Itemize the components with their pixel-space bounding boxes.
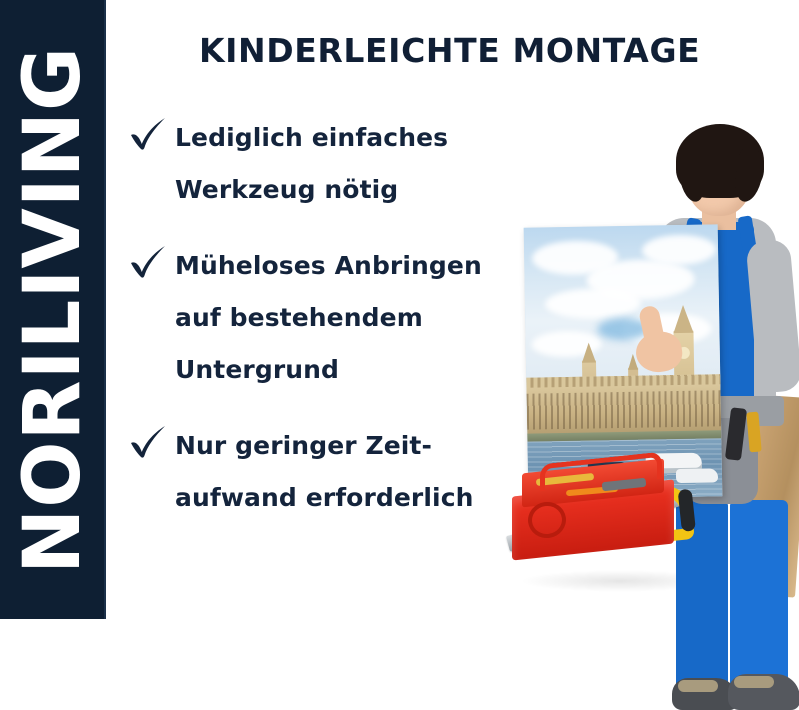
list-item-line: Untergrund <box>175 344 508 396</box>
check-icon <box>128 116 168 152</box>
brand-sidebar-edge <box>104 0 106 619</box>
list-item: Lediglich einfaches Werkzeug nötig <box>128 112 508 216</box>
list-item-line: aufwand erforderlich <box>175 472 508 524</box>
benefits-list: Lediglich einfaches Werkzeug nötig Mühel… <box>128 112 508 548</box>
list-item-text: Lediglich einfaches Werkzeug nötig <box>175 112 508 216</box>
boat-white-small <box>676 468 718 483</box>
worker-boot-right <box>728 674 799 710</box>
list-item-line: Müheloses Anbringen <box>175 240 508 292</box>
list-item-line: Nur geringer Zeit- <box>175 420 508 472</box>
product-photo <box>490 100 799 619</box>
list-item-line: Lediglich einfaches <box>175 112 508 164</box>
list-item-line: Werkzeug nötig <box>175 164 508 216</box>
list-item-text: Nur geringer Zeit- aufwand erforderlich <box>175 420 508 524</box>
check-icon <box>128 244 168 280</box>
poster-canvas: NORILIVING KINDERLEICHTE MONTAGE Ledigli… <box>0 0 799 619</box>
list-item-line: auf bestehendem <box>175 292 508 344</box>
toolbox <box>506 458 682 554</box>
list-item: Nur geringer Zeit- aufwand erforderlich <box>128 420 508 524</box>
worker-hair <box>676 124 764 198</box>
worker-leg-right <box>730 500 788 696</box>
list-item-text: Müheloses Anbringen auf bestehendem Unte… <box>175 240 508 396</box>
brand-wordmark: NORILIVING <box>14 45 92 573</box>
brand-sidebar: NORILIVING <box>0 0 106 619</box>
page-title: KINDERLEICHTE MONTAGE <box>199 31 700 70</box>
list-item: Müheloses Anbringen auf bestehendem Unte… <box>128 240 508 396</box>
check-icon <box>128 424 168 460</box>
palace-windows <box>527 390 722 429</box>
